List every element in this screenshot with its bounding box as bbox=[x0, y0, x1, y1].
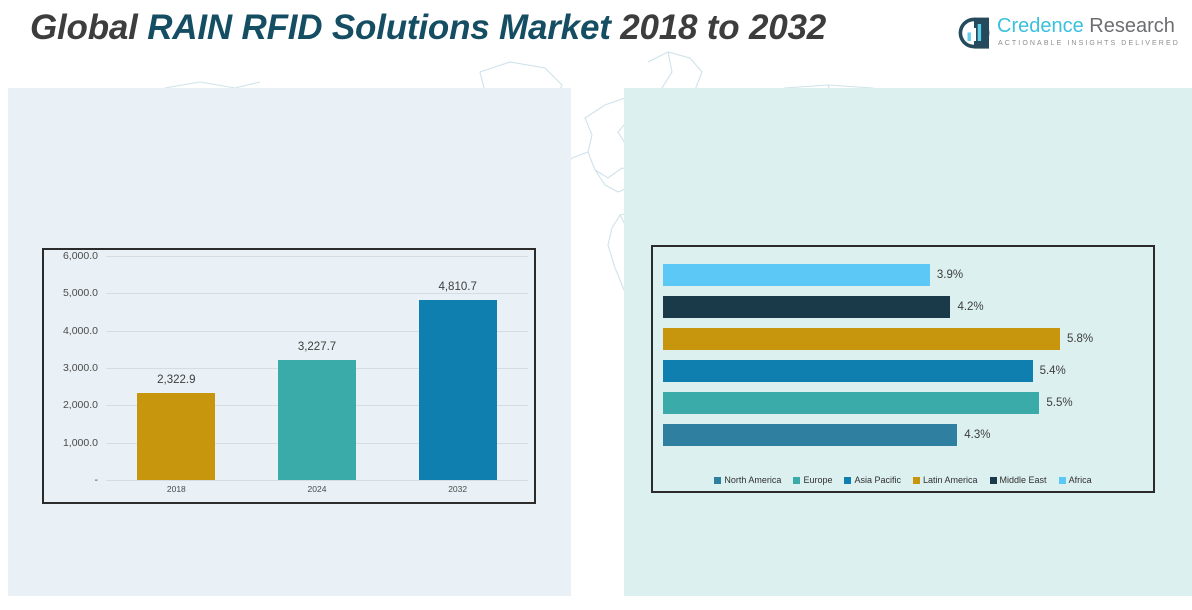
gridline bbox=[106, 293, 528, 294]
cagr-by-region-bar-chart: 3.9%4.2%5.8%5.4%5.5%4.3% North AmericaEu… bbox=[651, 245, 1155, 493]
legend-item[interactable]: Latin America bbox=[913, 475, 978, 485]
bar-value-label: 5.4% bbox=[1040, 365, 1066, 377]
table-row: 2,322.92018 bbox=[137, 393, 215, 480]
title-segment-global: Global bbox=[30, 8, 147, 47]
cagr-plot-area: 3.9%4.2%5.8%5.4%5.5%4.3% bbox=[653, 247, 1153, 491]
bar-value-label: 5.5% bbox=[1046, 397, 1072, 409]
region-bar bbox=[663, 392, 1039, 414]
list-item: 5.4% bbox=[663, 360, 1147, 382]
region-bar bbox=[663, 264, 930, 286]
y-axis-tick-label: - bbox=[52, 474, 98, 486]
bar-value-label: 2,322.9 bbox=[157, 374, 195, 386]
market-size-bar-chart: -1,000.02,000.03,000.04,000.05,000.06,00… bbox=[42, 248, 536, 504]
page-title: Global RAIN RFID Solutions Market 2018 t… bbox=[30, 8, 826, 48]
legend-label: Asia Pacific bbox=[854, 475, 901, 485]
y-axis-tick-label: 2,000.0 bbox=[52, 399, 98, 411]
legend-swatch-icon bbox=[1059, 477, 1066, 484]
legend-label: North America bbox=[724, 475, 781, 485]
legend-swatch-icon bbox=[844, 477, 851, 484]
y-axis-tick-label: 5,000.0 bbox=[52, 287, 98, 299]
legend-item[interactable]: Africa bbox=[1059, 475, 1092, 485]
brand-logo[interactable]: Credence Research ACTIONABLE INSIGHTS DE… bbox=[957, 13, 1167, 57]
legend-swatch-icon bbox=[793, 477, 800, 484]
gridline bbox=[106, 256, 528, 257]
bar-value-label: 4.2% bbox=[957, 301, 983, 313]
legend-item[interactable]: Europe bbox=[793, 475, 832, 485]
cagr-legend: North AmericaEuropeAsia PacificLatin Ame… bbox=[653, 475, 1153, 485]
table-row: 4,810.72032 bbox=[419, 300, 497, 480]
legend-label: Africa bbox=[1069, 475, 1092, 485]
legend-swatch-icon bbox=[714, 477, 721, 484]
x-axis-category-label: 2032 bbox=[448, 484, 467, 494]
region-bar bbox=[663, 360, 1033, 382]
infographic-root: Global RAIN RFID Solutions Market 2018 t… bbox=[0, 0, 1192, 610]
header: Global RAIN RFID Solutions Market 2018 t… bbox=[0, 0, 1192, 88]
list-item: 4.3% bbox=[663, 424, 1147, 446]
market-size-plot-area: -1,000.02,000.03,000.04,000.05,000.06,00… bbox=[44, 250, 534, 502]
bar-value-label: 3.9% bbox=[937, 269, 963, 281]
logo-tagline: ACTIONABLE INSIGHTS DELIVERED bbox=[998, 40, 1180, 47]
x-axis-category-label: 2024 bbox=[308, 484, 327, 494]
logo-wordmark: Credence Research bbox=[997, 15, 1175, 38]
legend-swatch-icon bbox=[913, 477, 920, 484]
bar-chart-circle-icon bbox=[957, 16, 991, 50]
legend-item[interactable]: Middle East bbox=[990, 475, 1047, 485]
y-axis-tick-label: 3,000.0 bbox=[52, 362, 98, 374]
legend-swatch-icon bbox=[990, 477, 997, 484]
list-item: 5.8% bbox=[663, 328, 1147, 350]
legend-label: Middle East bbox=[1000, 475, 1047, 485]
bar-value-label: 4,810.7 bbox=[438, 281, 476, 293]
y-axis-tick-label: 1,000.0 bbox=[52, 437, 98, 449]
region-bar bbox=[663, 424, 957, 446]
title-segment-product: RAIN RFID Solutions Market bbox=[147, 8, 610, 47]
bar-value-label: 3,227.7 bbox=[298, 341, 336, 353]
legend-label: Latin America bbox=[923, 475, 978, 485]
y-axis-tick-label: 6,000.0 bbox=[52, 250, 98, 262]
list-item: 5.5% bbox=[663, 392, 1147, 414]
y-axis-tick-label: 4,000.0 bbox=[52, 325, 98, 337]
bar-value-label: 4.3% bbox=[964, 429, 990, 441]
title-segment-years: 2018 to 2032 bbox=[611, 8, 826, 47]
list-item: 3.9% bbox=[663, 264, 1147, 286]
logo-name-primary: Credence bbox=[997, 15, 1084, 37]
gridline bbox=[106, 480, 528, 481]
table-row: 3,227.72024 bbox=[278, 360, 356, 481]
x-axis-category-label: 2018 bbox=[167, 484, 186, 494]
region-bar bbox=[663, 296, 950, 318]
list-item: 4.2% bbox=[663, 296, 1147, 318]
legend-item[interactable]: Asia Pacific bbox=[844, 475, 901, 485]
legend-item[interactable]: North America bbox=[714, 475, 781, 485]
bar-value-label: 5.8% bbox=[1067, 333, 1093, 345]
legend-label: Europe bbox=[803, 475, 832, 485]
logo-name-secondary: Research bbox=[1084, 15, 1175, 37]
region-bar bbox=[663, 328, 1060, 350]
